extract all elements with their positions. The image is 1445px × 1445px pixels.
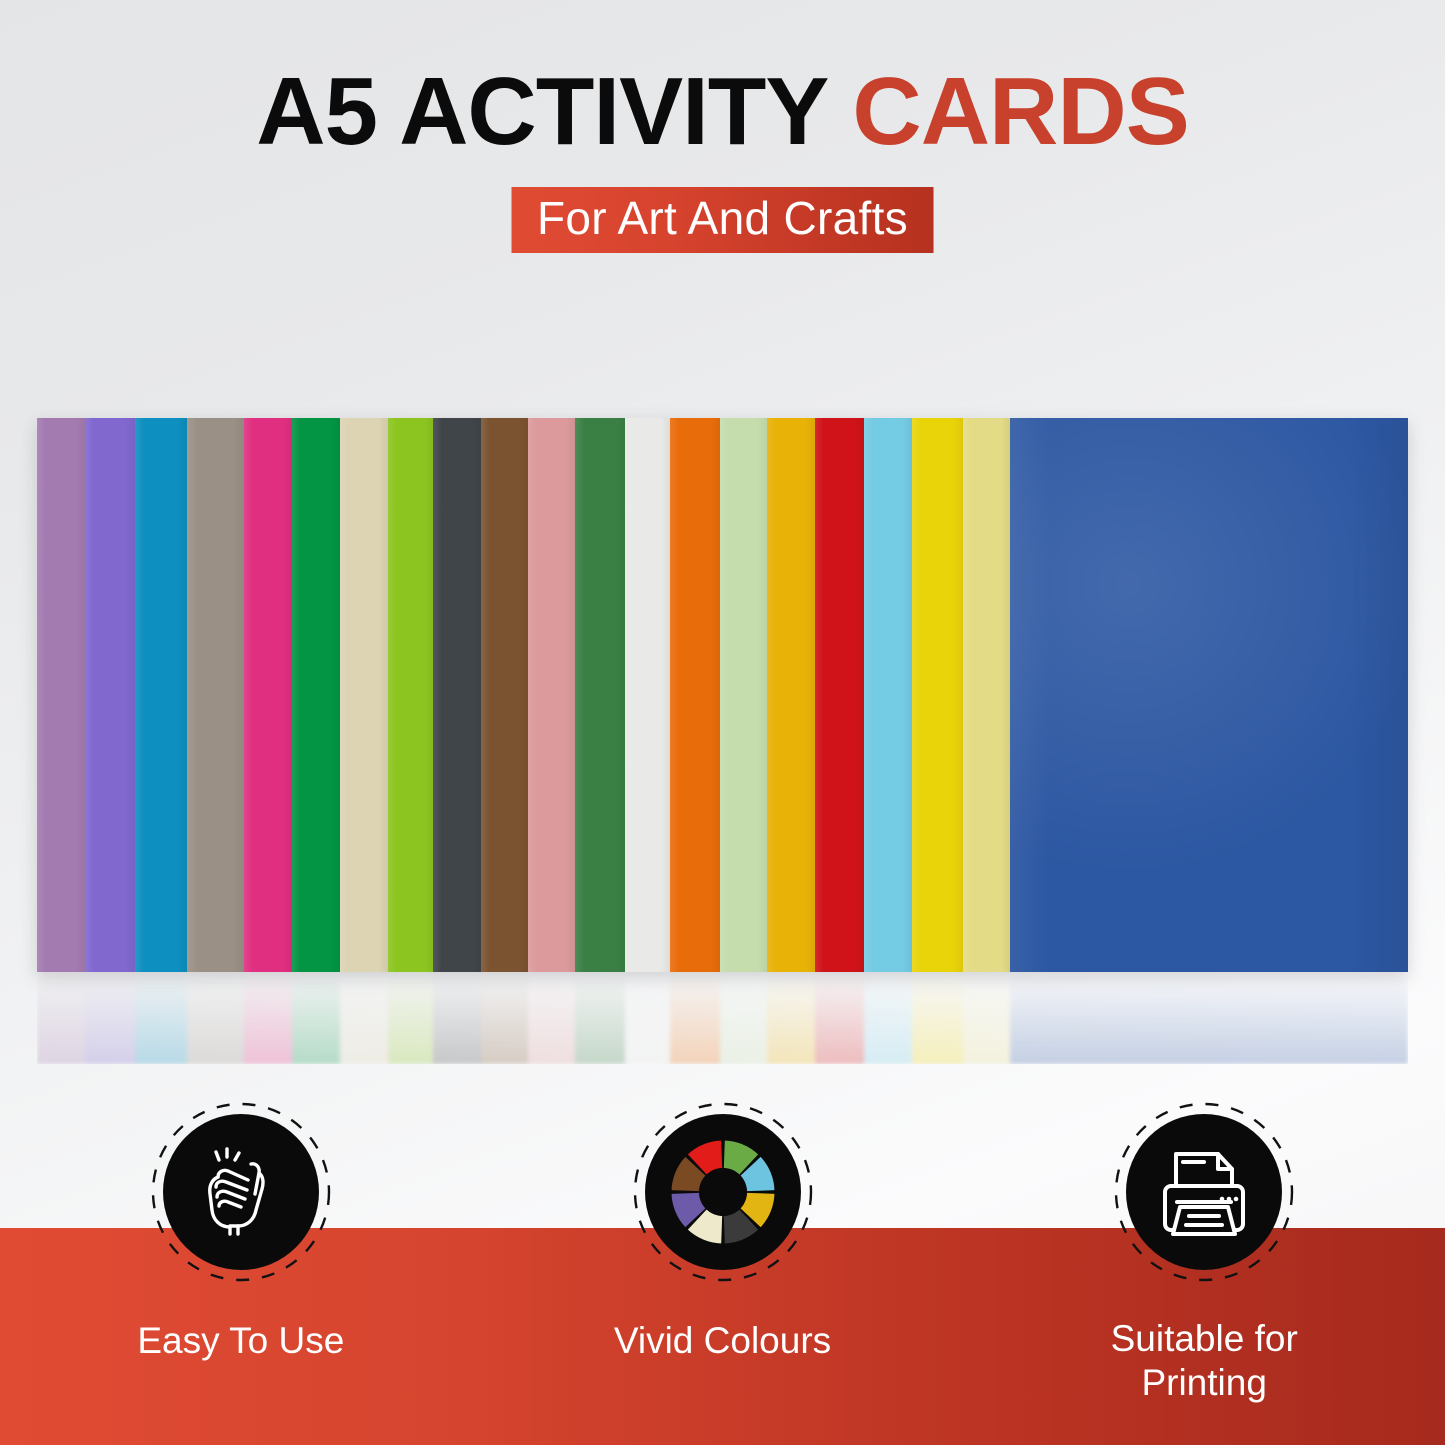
card-reflection-white: [625, 972, 670, 1064]
feature-label: Suitable for Printing: [1111, 1317, 1298, 1404]
subtitle-banner: For Art And Crafts: [511, 187, 934, 253]
card-reflection-emerald-green: [292, 972, 340, 1064]
card-strip-bright-yellow: [912, 418, 963, 972]
colour-wheel-icon: [661, 1130, 785, 1254]
printer-icon: [1152, 1140, 1256, 1244]
card-reflection-lime-green: [388, 972, 433, 1064]
subtitle-text: For Art And Crafts: [537, 195, 908, 241]
card-strip-golden-yellow: [767, 418, 815, 972]
card-strip-mint-green: [720, 418, 767, 972]
product-banner: A5 ACTIVITY CARDS For Art And Crafts: [0, 0, 1445, 1445]
card-strip-brown: [481, 418, 528, 972]
card-reflection-red: [815, 972, 864, 1064]
card-strip-emerald-green: [292, 418, 340, 972]
card-reflection-royal-blue: [1010, 972, 1408, 1064]
card-reflection-warm-grey: [187, 972, 244, 1064]
card-strip-cyan-blue: [135, 418, 187, 972]
feature-label: Easy To Use: [137, 1319, 344, 1363]
card-strip-forest-green: [575, 418, 625, 972]
card-reflection-orange: [670, 972, 720, 1064]
card-strip-red: [815, 418, 864, 972]
badge-circle: [1126, 1114, 1282, 1270]
card-reflection-sky-blue: [864, 972, 912, 1064]
card-stack: [37, 418, 1408, 972]
card-reflection-brown: [481, 972, 528, 1064]
card-reflection-mauve: [37, 972, 85, 1064]
card-strip-royal-blue: [1010, 418, 1408, 972]
card-reflection-salmon-pink: [528, 972, 576, 1064]
card-reflection-bright-yellow: [912, 972, 963, 1064]
feature-badge: [1113, 1101, 1295, 1283]
card-reflection-cream: [340, 972, 388, 1064]
card-reflection-purple: [85, 972, 135, 1064]
card-reflection-mint-green: [720, 972, 767, 1064]
feature-badge: [150, 1101, 332, 1283]
feature-label: Vivid Colours: [614, 1319, 831, 1363]
card-strip-cream: [340, 418, 388, 972]
feature-list: Easy To Use Vivid Colours: [0, 1095, 1445, 1445]
card-reflection-forest-green: [575, 972, 625, 1064]
feature-suitable-for-printing: Suitable for Printing: [963, 1095, 1445, 1445]
card-strip-purple: [85, 418, 135, 972]
feature-vivid-colours: Vivid Colours: [482, 1095, 964, 1445]
title-primary: A5 ACTIVITY: [256, 58, 826, 165]
card-stack-reflection: [37, 972, 1408, 1064]
card-reflection-charcoal: [433, 972, 481, 1064]
card-strip-magenta-pink: [244, 418, 292, 972]
card-strip-warm-grey: [187, 418, 244, 972]
card-strip-charcoal: [433, 418, 481, 972]
title-accent: CARDS: [852, 58, 1188, 165]
badge-circle: [645, 1114, 801, 1270]
card-reflection-cyan-blue: [135, 972, 187, 1064]
card-reflection-pale-yellow: [963, 972, 1010, 1064]
feature-easy-to-use: Easy To Use: [0, 1095, 482, 1445]
product-photo: [37, 418, 1408, 972]
card-strip-orange: [670, 418, 720, 972]
page-title: A5 ACTIVITY CARDS: [0, 62, 1445, 163]
card-strip-salmon-pink: [528, 418, 576, 972]
card-strip-sky-blue: [864, 418, 912, 972]
card-strip-lime-green: [388, 418, 433, 972]
card-reflection-magenta-pink: [244, 972, 292, 1064]
header: A5 ACTIVITY CARDS For Art And Crafts: [0, 0, 1445, 300]
card-strip-white: [625, 418, 670, 972]
card-reflection-golden-yellow: [767, 972, 815, 1064]
feature-badge: [632, 1101, 814, 1283]
card-strip-pale-yellow: [963, 418, 1010, 972]
snapping-fingers-icon: [193, 1144, 289, 1240]
badge-circle: [163, 1114, 319, 1270]
card-strip-mauve: [37, 418, 85, 972]
